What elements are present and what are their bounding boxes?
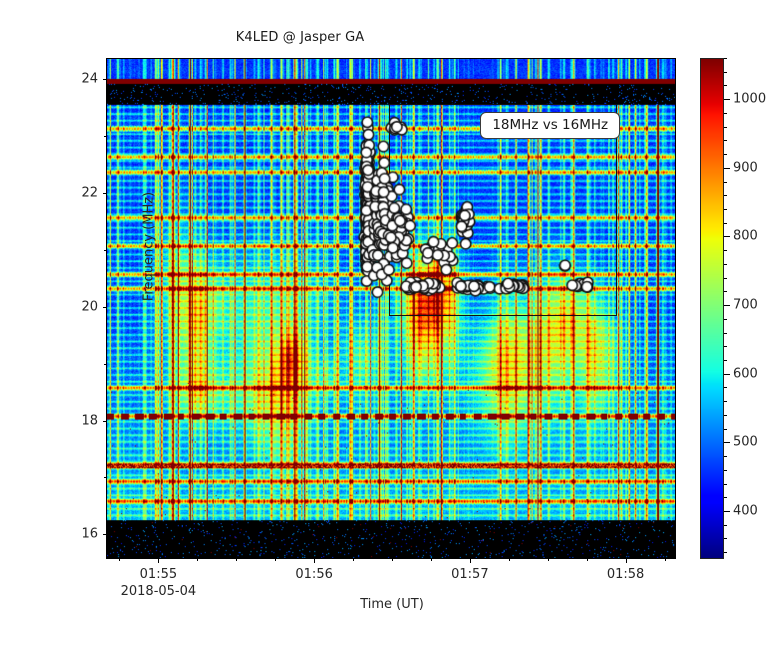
x-tick-mark bbox=[314, 558, 315, 563]
colorbar-tick-label: 1000 bbox=[733, 92, 766, 107]
x-tick-label: 01:55 bbox=[140, 567, 177, 582]
colorbar-tick-mark-minor bbox=[724, 154, 727, 155]
y-tick-label: 22 bbox=[48, 185, 107, 200]
colorbar-tick-mark-minor bbox=[724, 127, 727, 128]
colorbar-tick-mark-minor bbox=[724, 429, 727, 430]
colorbar-tick-mark-minor bbox=[724, 497, 727, 498]
colorbar-tick-mark bbox=[724, 236, 730, 237]
colorbar-tick-mark bbox=[724, 305, 730, 306]
colorbar-tick-mark-minor bbox=[724, 319, 727, 320]
colorbar-tick-label: 900 bbox=[733, 160, 758, 175]
colorbar-tick-mark-minor bbox=[724, 209, 727, 210]
colorbar-tick-label: 600 bbox=[733, 366, 758, 381]
colorbar-tick-mark-minor bbox=[724, 195, 727, 196]
colorbar-tick-mark-minor bbox=[724, 360, 727, 361]
colorbar-tick-mark-minor bbox=[724, 291, 727, 292]
x-tick-mark-minor bbox=[275, 558, 276, 561]
y-tick-label: 24 bbox=[48, 71, 107, 86]
y-tick-label: 20 bbox=[48, 299, 107, 314]
colorbar-tick-mark-minor bbox=[724, 182, 727, 183]
x-tick-mark bbox=[626, 558, 627, 563]
colorbar-tick-mark-minor bbox=[724, 470, 727, 471]
y-tick-label: 18 bbox=[48, 413, 107, 428]
colorbar-tick-mark bbox=[724, 511, 730, 512]
colorbar-gradient bbox=[700, 58, 724, 559]
y-tick-label: 16 bbox=[48, 527, 107, 542]
colorbar-tick-mark-minor bbox=[724, 333, 727, 334]
colorbar-tick-mark-minor bbox=[724, 538, 727, 539]
colorbar[interactable]: 4005006007008009001000 bbox=[700, 58, 724, 559]
x-tick-mark-minor bbox=[548, 558, 549, 561]
colorbar-tick-mark-minor bbox=[724, 85, 727, 86]
colorbar-tick-mark-minor bbox=[724, 387, 727, 388]
colorbar-tick-mark-minor bbox=[724, 346, 727, 347]
x-tick-mark-minor bbox=[587, 558, 588, 561]
spectrogram-figure: K4LED @ Jasper GA Frequency (MHz) 161820… bbox=[0, 0, 783, 656]
colorbar-tick-mark-minor bbox=[724, 415, 727, 416]
x-tick-mark-minor bbox=[509, 558, 510, 561]
x-tick-label: 01:56 bbox=[295, 567, 332, 582]
colorbar-tick-mark-minor bbox=[724, 552, 727, 553]
colorbar-tick-mark-minor bbox=[724, 58, 727, 59]
colorbar-tick-mark-minor bbox=[724, 223, 727, 224]
colorbar-tick-mark bbox=[724, 168, 730, 169]
colorbar-tick-mark-minor bbox=[724, 278, 727, 279]
colorbar-tick-label: 800 bbox=[733, 229, 758, 244]
colorbar-tick-mark bbox=[724, 374, 730, 375]
x-tick-mark-minor bbox=[197, 558, 198, 561]
colorbar-tick-mark-minor bbox=[724, 484, 727, 485]
x-tick-mark-minor bbox=[431, 558, 432, 561]
colorbar-tick-mark-minor bbox=[724, 264, 727, 265]
x-tick-mark-minor bbox=[119, 558, 120, 561]
colorbar-tick-mark-minor bbox=[724, 72, 727, 73]
colorbar-tick-mark-minor bbox=[724, 113, 727, 114]
colorbar-tick-mark bbox=[724, 442, 730, 443]
colorbar-tick-mark-minor bbox=[724, 401, 727, 402]
colorbar-tick-mark-minor bbox=[724, 140, 727, 141]
x-tick-label: 01:58 bbox=[607, 567, 644, 582]
x-tick-mark-minor bbox=[236, 558, 237, 561]
x-tick-mark bbox=[158, 558, 159, 563]
colorbar-tick-mark-minor bbox=[724, 456, 727, 457]
x-tick-mark-minor bbox=[353, 558, 354, 561]
colorbar-tick-label: 400 bbox=[733, 503, 758, 518]
x-tick-mark-minor bbox=[665, 558, 666, 561]
page-title: K4LED @ Jasper GA bbox=[0, 30, 600, 45]
colorbar-tick-label: 500 bbox=[733, 435, 758, 450]
x-tick-mark-minor bbox=[392, 558, 393, 561]
colorbar-tick-label: 700 bbox=[733, 298, 758, 313]
colorbar-tick-mark-minor bbox=[724, 525, 727, 526]
plot-area[interactable]: Frequency (MHz) 1618202224 01:5501:5601:… bbox=[106, 58, 676, 559]
x-axis-label: Time (UT) bbox=[107, 597, 677, 612]
annotation-label: 18MHz vs 16MHz bbox=[480, 112, 620, 140]
colorbar-tick-mark bbox=[724, 99, 730, 100]
x-tick-label: 01:57 bbox=[451, 567, 488, 582]
colorbar-tick-mark-minor bbox=[724, 250, 727, 251]
x-tick-mark bbox=[470, 558, 471, 563]
